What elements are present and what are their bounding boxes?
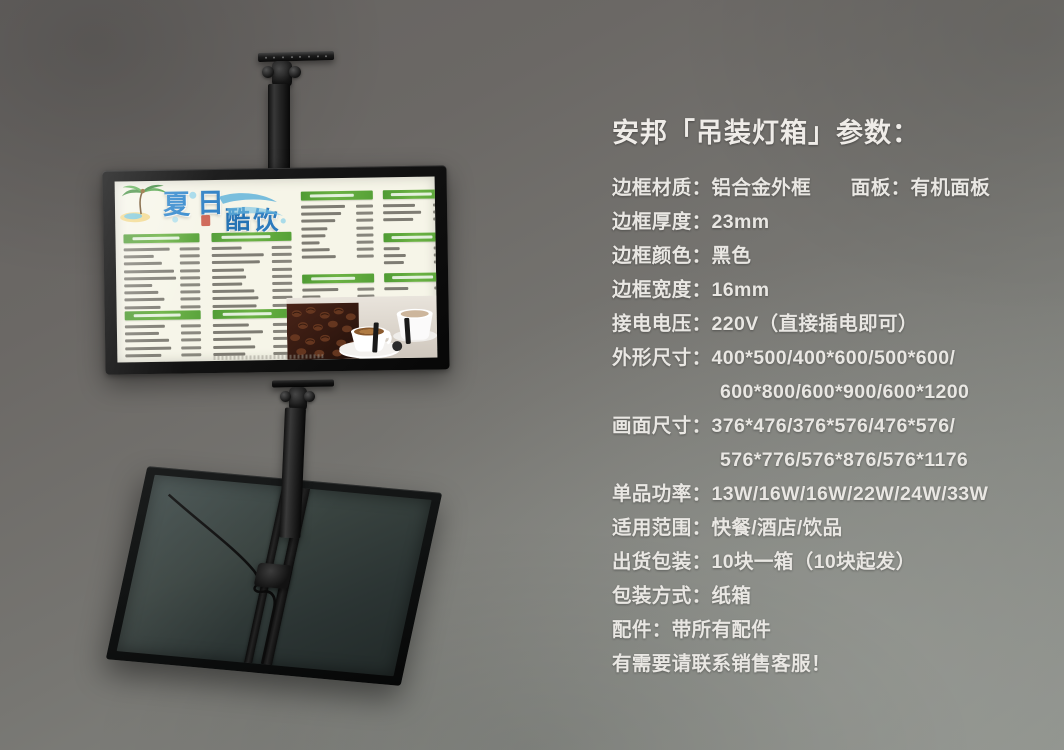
menu-row bbox=[383, 216, 437, 224]
spec-line: 配件：带所有配件 bbox=[612, 613, 1052, 647]
back-panel-swivel-bracket bbox=[254, 563, 293, 590]
upper-swivel-knob-left bbox=[262, 66, 274, 78]
section-header-banner bbox=[383, 189, 438, 199]
spec-line: 包装方式：纸箱 bbox=[612, 579, 1052, 613]
section-header-banner bbox=[302, 273, 374, 283]
light-box-aluminium-frame: 夏 日 酷 饮 bbox=[102, 165, 449, 374]
menu-headline: 夏 日 酷 饮 bbox=[157, 188, 308, 236]
spec-line: 单品功率：13W/16W/16W/22W/24W/33W bbox=[612, 477, 1052, 511]
water-splash-decoration bbox=[157, 188, 308, 236]
menu-section-bingpin bbox=[383, 232, 437, 267]
light-box-back-panel bbox=[106, 466, 443, 686]
product-spec-list: 安邦「吊装灯箱」参数： 边框材质：铝合金外框 面板：有机面板 边框厚度：23mm… bbox=[612, 120, 1052, 681]
spec-line: 边框厚度：23mm bbox=[612, 205, 1052, 239]
menu-section-xianguozhi bbox=[301, 190, 374, 261]
section-header-banner bbox=[383, 232, 437, 242]
menu-section-naicha bbox=[123, 233, 200, 311]
lower-swivel-knob-left bbox=[280, 391, 291, 402]
menu-section-tetiao bbox=[384, 272, 437, 292]
spec-line: 外形尺寸：400*500/400*600/500*600/ bbox=[612, 341, 1052, 375]
upper-swivel-knob-right bbox=[289, 66, 301, 78]
spec-line: 边框宽度：16mm bbox=[612, 273, 1052, 307]
menu-section-tianpin bbox=[125, 310, 202, 359]
spec-line-continuation: 600*800/600*900/600*1200 bbox=[612, 375, 1052, 409]
menu-section-keke bbox=[211, 232, 292, 310]
section-header-banner bbox=[384, 272, 437, 282]
menu-panel-face: 夏 日 酷 饮 bbox=[115, 176, 438, 362]
spec-line: 边框颜色：黑色 bbox=[612, 239, 1052, 273]
section-header-banner bbox=[301, 190, 373, 200]
spec-line: 画面尺寸：376*476/376*576/476*576/ bbox=[612, 409, 1052, 443]
section-header-banner bbox=[211, 232, 291, 242]
spec-line: 接电电压：220V（直接插电即可） bbox=[612, 307, 1052, 341]
section-header-banner bbox=[213, 309, 293, 319]
spec-line-continuation: 576*776/576*876/576*1176 bbox=[612, 443, 1052, 477]
menu-row bbox=[302, 253, 374, 261]
ceiling-mount-plate bbox=[258, 51, 334, 62]
section-header-banner bbox=[125, 310, 201, 320]
menu-row bbox=[125, 351, 201, 359]
spec-line: 适用范围：快餐/酒店/饮品 bbox=[612, 511, 1052, 545]
menu-section-guoren bbox=[383, 189, 438, 224]
lower-swivel-knob-right bbox=[304, 391, 315, 402]
menu-section-naixi bbox=[213, 309, 294, 358]
ceiling-plate-holes bbox=[258, 51, 334, 62]
coffee-photo bbox=[286, 295, 437, 359]
menu-light-box: 夏 日 酷 饮 bbox=[102, 165, 449, 374]
page-title: 安邦「吊装灯箱」参数： bbox=[612, 120, 1052, 147]
menu-row bbox=[384, 284, 437, 292]
spec-line: 出货包装：10块一箱（10块起发） bbox=[612, 545, 1052, 579]
product-photo-scene: 夏 日 酷 饮 bbox=[0, 0, 1064, 750]
spec-line: 边框材质：铝合金外框 面板：有机面板 bbox=[612, 171, 1052, 205]
spec-line: 有需要请联系销售客服！ bbox=[612, 647, 1052, 681]
section-header-banner bbox=[123, 233, 199, 243]
menu-row bbox=[384, 259, 438, 267]
